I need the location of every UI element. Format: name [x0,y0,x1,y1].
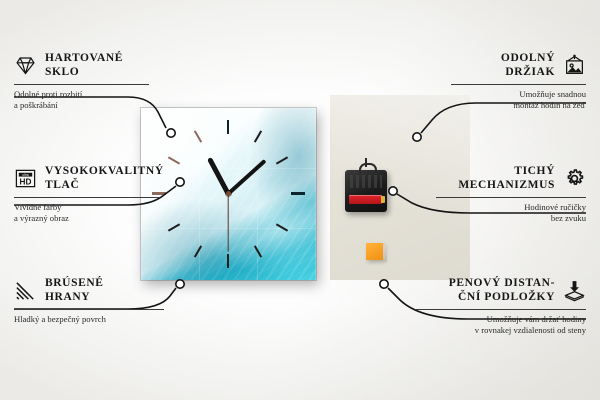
feature-desc-line2: a výrazný obraz [14,213,159,224]
feature-divider [415,309,586,310]
infographic-canvas: HARTOVANÉ SKLO Odolné proti rozbití a po… [0,0,600,400]
feature-title-line2: SKLO [45,66,123,80]
wire-node-right-1 [413,133,421,141]
feature-title-line2: DRŽIAK [501,66,555,80]
wire-node-right-2 [389,187,397,195]
feature-title-line1: VYSOKOKVALITNÝ [45,165,164,179]
feature-header: BRÚSENÉ HRANY [14,277,164,304]
feature-desc-line1: Hodinové ručičky [436,202,586,213]
feature-titles: HARTOVANÉ SKLO [45,52,123,79]
feature-desc-line1: Umožňuje vám držať hodiny [415,314,586,325]
feature-header: HARTOVANÉ SKLO [14,52,149,79]
feature-desc-line1: Umožňuje snadnou [451,89,586,100]
feature-header: ODOLNÝ DRŽIAK [451,52,586,79]
feature-header: PENOVÝ DISTAN- ČNÍ PODLOŽKY [415,277,586,304]
feature-silent-mechanism: TICHÝ MECHANIZMUS Hodinové ručičky bez z… [436,165,586,223]
feature-divider [14,84,149,85]
feature-header: ultra HD VYSOKOKVALITNÝ TLAČ [14,165,159,192]
foam-spacer-arrow-icon [563,279,586,302]
wall-hanger-frame-icon [563,54,586,77]
feature-tempered-glass: HARTOVANÉ SKLO Odolné proti rozbití a po… [14,52,149,110]
feature-divider [451,84,586,85]
feature-title-line1: BRÚSENÉ [45,277,104,291]
feature-header: TICHÝ MECHANIZMUS [436,165,586,192]
feature-titles: PENOVÝ DISTAN- ČNÍ PODLOŽKY [449,277,555,304]
feature-desc-line2: montáž hodin na zeď [451,100,586,111]
feature-divider [14,309,164,310]
feature-title-line1: TICHÝ [458,165,555,179]
svg-text:HD: HD [20,178,32,187]
feature-title-line1: HARTOVANÉ [45,52,123,66]
feature-desc-line1: Hladký a bezpečný povrch [14,314,164,325]
svg-text:ultra: ultra [22,173,29,177]
wire-node-left-1 [167,129,175,137]
diamond-icon [14,54,37,77]
feature-durable-hanger: ODOLNÝ DRŽIAK Umožňuje snadnou montáž ho… [451,52,586,110]
gear-icon [563,167,586,190]
feature-desc-line2: a poškrábání [14,100,149,111]
feature-desc-line2: v rovnakej vzdialenosti od steny [415,325,586,336]
ultra-hd-badge-icon: ultra HD [14,167,37,190]
wire-node-left-2 [176,178,184,186]
feature-high-quality-print: ultra HD VYSOKOKVALITNÝ TLAČ Vivídne far… [14,165,159,223]
wire-node-left-3 [176,280,184,288]
feature-title-line2: HRANY [45,291,104,305]
feature-title-line2: TLAČ [45,179,164,193]
feature-desc-line1: Odolné proti rozbití [14,89,149,100]
ground-edges-icon [14,279,37,302]
feature-ground-edges: BRÚSENÉ HRANY Hladký a bezpečný povrch [14,277,164,325]
feature-titles: ODOLNÝ DRŽIAK [501,52,555,79]
feature-title-line1: PENOVÝ DISTAN- [449,277,555,291]
feature-title-line2: MECHANIZMUS [458,179,555,193]
feature-title-line2: ČNÍ PODLOŽKY [449,291,555,305]
feature-foam-spacers: PENOVÝ DISTAN- ČNÍ PODLOŽKY Umožňuje vám… [415,277,586,335]
wire-node-right-3 [380,280,388,288]
feature-titles: VYSOKOKVALITNÝ TLAČ [45,165,164,192]
feature-divider [436,197,586,198]
feature-desc-line1: Vivídne farby [14,202,159,213]
feature-desc-line2: bez zvuku [436,213,586,224]
feature-titles: BRÚSENÉ HRANY [45,277,104,304]
feature-titles: TICHÝ MECHANIZMUS [458,165,555,192]
feature-title-line1: ODOLNÝ [501,52,555,66]
feature-divider [14,197,159,198]
